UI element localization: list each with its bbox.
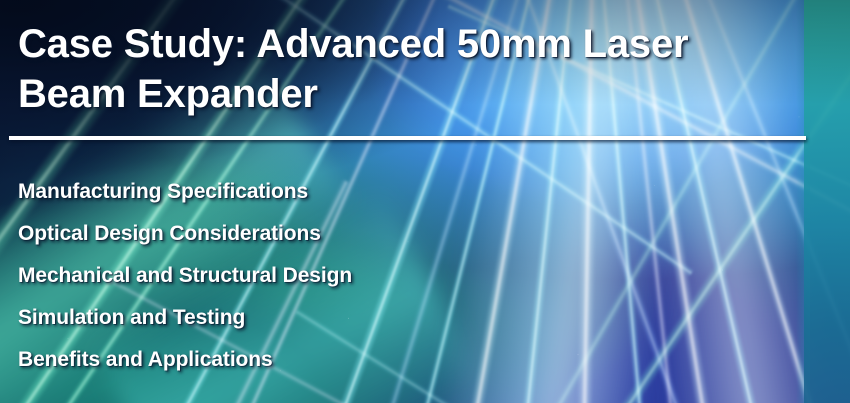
list-item: Optical Design Considerations [18, 213, 352, 255]
list-item: Mechanical and Structural Design [18, 255, 352, 297]
list-item: Benefits and Applications [18, 339, 352, 381]
page-title: Case Study: Advanced 50mm Laser Beam Exp… [18, 19, 788, 119]
slide-content: Case Study: Advanced 50mm Laser Beam Exp… [0, 0, 850, 403]
list-item: Manufacturing Specifications [18, 171, 352, 213]
title-divider [9, 136, 806, 140]
table-of-contents: Manufacturing Specifications Optical Des… [18, 171, 352, 381]
slide-canvas: Case Study: Advanced 50mm Laser Beam Exp… [0, 0, 850, 403]
list-item: Simulation and Testing [18, 297, 352, 339]
